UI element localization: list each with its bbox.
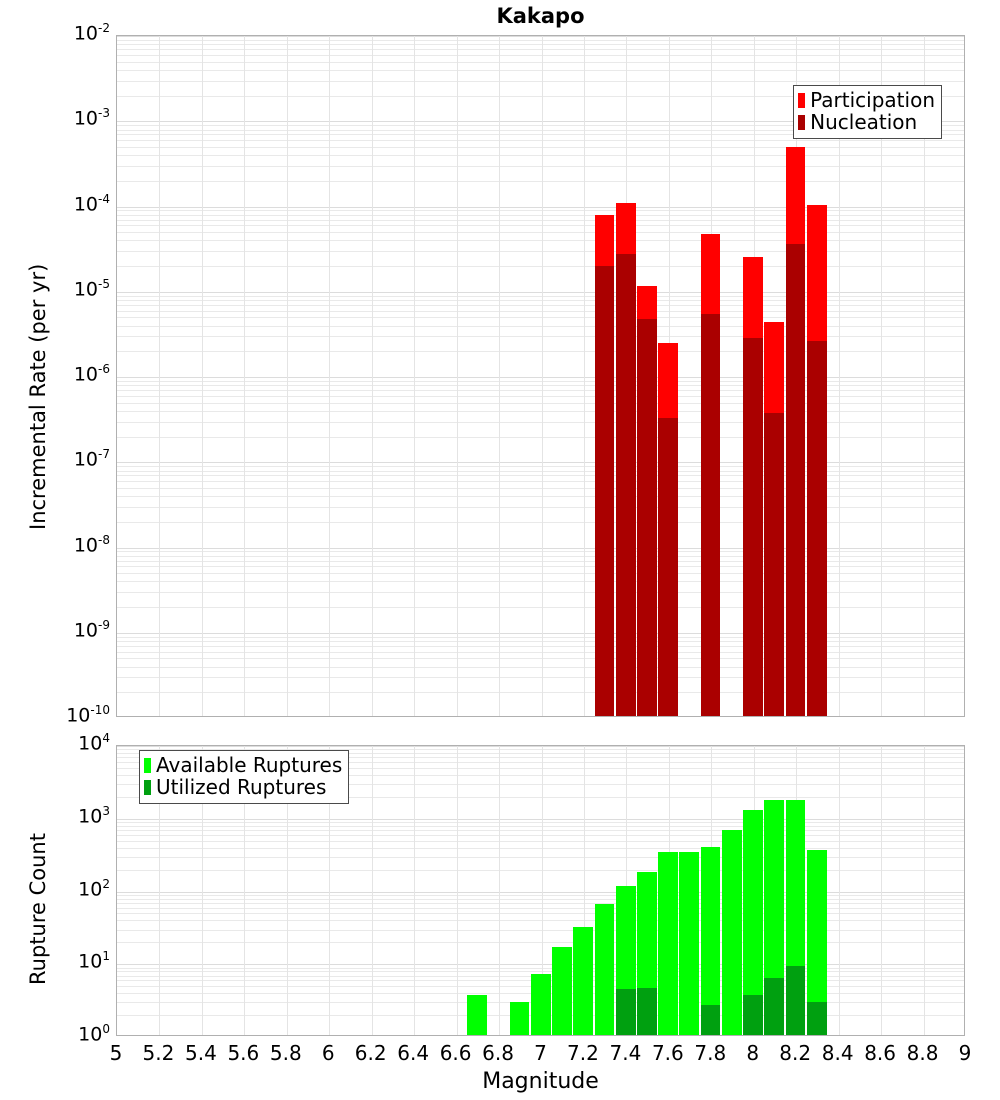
bar [701,35,721,716]
y-tick-base: 10 [66,704,90,726]
legend-label-participation: Participation [810,89,935,111]
y-tick-label: 10-6 [40,363,110,384]
y-tick-base: 10 [78,805,102,827]
y-tick-exponent: -2 [98,21,110,35]
bar [616,35,636,716]
x-tick-label: 6.4 [397,1041,429,1065]
x-tick-label: 8.6 [864,1041,896,1065]
bar [764,35,784,716]
x-tick-label: 9 [959,1041,972,1065]
bar-segment-inner [786,966,806,1035]
y-tick-exponent: 4 [102,731,110,745]
x-tick-label: 6.8 [482,1041,514,1065]
bar-segment-inner [743,338,763,716]
x-tick-label: 7 [534,1041,547,1065]
bar-segment-inner [786,244,806,716]
bar-segment-inner [743,995,763,1035]
bar-segment-inner [764,413,784,716]
bar [595,35,615,716]
bar [658,745,678,1035]
chart-title: Kakapo [116,4,965,28]
bar-segment-inner [616,254,636,716]
vertical-gridline [372,36,373,716]
bar [807,745,827,1035]
nucleation-swatch-icon [798,115,805,130]
bar [552,745,572,1035]
bar-segment-inner [616,989,636,1035]
vertical-gridline [372,746,373,1035]
vertical-gridline [414,36,415,716]
legend-incremental-rate: Participation Nucleation [793,85,942,139]
x-tick-label: 6.6 [440,1041,472,1065]
y-tick-exponent: -5 [98,277,110,291]
legend-item-nucleation: Nucleation [798,111,935,133]
y-tick-base: 10 [78,951,102,973]
y-tick-base: 10 [74,108,98,130]
y-tick-exponent: -4 [98,192,110,206]
vertical-gridline [499,36,500,716]
bar-segment-outer [510,1002,530,1035]
y-tick-base: 10 [74,449,98,471]
x-tick-label: 5.2 [143,1041,175,1065]
bar [637,35,657,716]
bar [786,745,806,1035]
y-tick-label: 10-9 [40,619,110,640]
bottom-y-axis-label: Rupture Count [26,833,50,985]
x-tick-label: 8.2 [779,1041,811,1065]
y-tick-label: 10-3 [40,107,110,128]
top-y-axis-label: Incremental Rate (per yr) [26,264,50,530]
y-tick-base: 10 [78,878,102,900]
x-tick-label: 5.6 [227,1041,259,1065]
bar-segment-outer [679,852,699,1035]
utilized-ruptures-swatch-icon [144,780,151,795]
y-tick-base: 10 [78,732,102,754]
legend-item-utilized-ruptures: Utilized Ruptures [144,776,342,798]
vertical-gridline [329,36,330,716]
y-tick-exponent: -7 [98,447,110,461]
figure-kakapo-mfd: Kakapo Participation Nucleation 10-210-3… [0,0,1000,1100]
y-tick-base: 10 [74,278,98,300]
vertical-gridline [457,746,458,1035]
x-axis-label: Magnitude [116,1069,965,1094]
available-ruptures-swatch-icon [144,758,151,773]
y-tick-label: 103 [40,805,110,826]
y-tick-label: 10-4 [40,193,110,214]
y-tick-exponent: -9 [98,618,110,632]
legend-label-nucleation: Nucleation [810,111,917,133]
y-tick-label: 10-10 [40,704,110,725]
y-tick-label: 102 [40,878,110,899]
x-tick-label: 5 [110,1041,123,1065]
bar [701,745,721,1035]
bar [531,745,551,1035]
bar [658,35,678,716]
bar [467,745,487,1035]
legend-label-available-ruptures: Available Ruptures [156,754,342,776]
participation-swatch-icon [798,93,805,108]
bar [722,745,742,1035]
bar-segment-inner [701,314,721,716]
bar [764,745,784,1035]
y-tick-base: 10 [78,1023,102,1045]
y-tick-base: 10 [74,534,98,556]
bar [743,745,763,1035]
bar [679,745,699,1035]
bar-segment-outer [467,995,487,1035]
y-tick-exponent: -8 [98,533,110,547]
x-tick-label: 8.8 [907,1041,939,1065]
bar-segment-outer [531,974,551,1035]
y-tick-label: 101 [40,950,110,971]
y-tick-exponent: 1 [102,949,110,963]
bar-segment-outer [573,927,593,1035]
rupture-count-plot-area: Available Ruptures Utilized Ruptures [116,745,965,1036]
vertical-gridline [584,36,585,716]
bar [637,745,657,1035]
y-tick-label: 10-7 [40,448,110,469]
bar [510,745,530,1035]
bar-segment-inner [595,266,615,716]
x-tick-label: 6 [322,1041,335,1065]
legend-label-utilized-ruptures: Utilized Ruptures [156,776,326,798]
x-tick-label: 8.4 [822,1041,854,1065]
vertical-gridline [457,36,458,716]
y-tick-exponent: 2 [102,877,110,891]
vertical-gridline [244,36,245,716]
y-tick-exponent: -6 [98,362,110,376]
bar-segment-inner [637,988,657,1035]
bar [616,745,636,1035]
x-tick-label: 5.4 [185,1041,217,1065]
vertical-gridline [159,36,160,716]
bar-segment-inner [658,418,678,716]
x-tick-label: 7.2 [567,1041,599,1065]
vertical-gridline [287,36,288,716]
x-tick-label: 6.2 [355,1041,387,1065]
y-tick-label: 10-2 [40,22,110,43]
x-tick-label: 7.4 [609,1041,641,1065]
bar-segment-outer [722,830,742,1035]
y-tick-base: 10 [74,619,98,641]
y-tick-exponent: 0 [102,1022,110,1036]
y-tick-exponent: -10 [90,703,110,717]
legend-item-available-ruptures: Available Ruptures [144,754,342,776]
x-tick-label: 5.8 [270,1041,302,1065]
y-tick-base: 10 [74,193,98,215]
y-tick-exponent: -3 [98,106,110,120]
bar [743,35,763,716]
y-tick-label: 104 [40,732,110,753]
bar-segment-outer [552,947,572,1035]
vertical-gridline [924,746,925,1035]
bar [595,745,615,1035]
y-tick-base: 10 [74,363,98,385]
incremental-rate-plot-area: Participation Nucleation [116,35,965,717]
y-tick-label: 100 [40,1023,110,1044]
y-tick-label: 10-5 [40,278,110,299]
x-tick-label: 7.8 [694,1041,726,1065]
legend-item-participation: Participation [798,89,935,111]
bar-segment-outer [658,852,678,1035]
bar [488,745,508,1035]
vertical-gridline [839,746,840,1035]
legend-rupture-count: Available Ruptures Utilized Ruptures [139,750,349,804]
bar-segment-inner [637,319,657,716]
x-tick-label: 7.6 [652,1041,684,1065]
bar [573,745,593,1035]
bar-segment-inner [807,341,827,716]
x-tick-label: 8 [746,1041,759,1065]
vertical-gridline [202,36,203,716]
vertical-gridline [881,746,882,1035]
bar-segment-inner [807,1002,827,1035]
bar-segment-inner [764,978,784,1035]
bar-segment-outer [595,904,615,1035]
y-tick-label: 10-8 [40,534,110,555]
y-tick-base: 10 [74,22,98,44]
y-tick-exponent: 3 [102,804,110,818]
vertical-gridline [542,36,543,716]
vertical-gridline [414,746,415,1035]
bar-segment-inner [701,1005,721,1035]
